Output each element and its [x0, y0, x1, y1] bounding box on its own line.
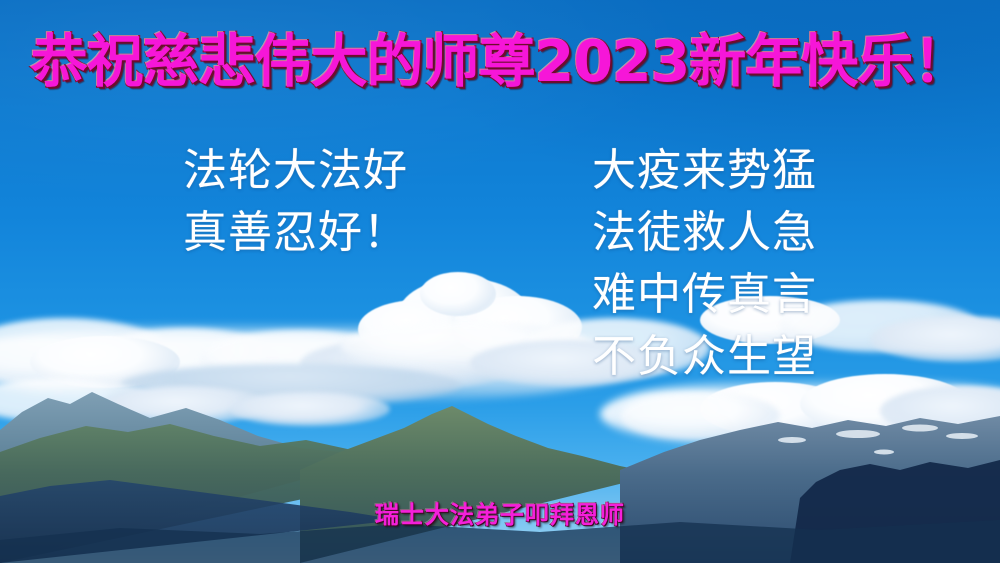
- credit-line: 瑞士大法弟子叩拜恩师: [0, 495, 1000, 530]
- verse-line: 难中传真言: [592, 264, 817, 326]
- verse-line: 法轮大法好: [183, 140, 408, 202]
- verse-line: 不负众生望: [592, 326, 817, 388]
- verse-line: 大疫来势猛: [592, 140, 817, 202]
- verse-block-left: 法轮大法好 真善忍好！: [183, 140, 408, 264]
- verse-block-right: 大疫来势猛 法徒救人急 难中传真言 不负众生望: [592, 140, 817, 388]
- card-title: 恭祝慈悲伟大的师尊2023新年快乐！: [0, 33, 1000, 93]
- verse-line: 法徒救人急: [592, 202, 817, 264]
- greeting-card: 恭祝慈悲伟大的师尊2023新年快乐！ 法轮大法好 真善忍好！ 大疫来势猛 法徒救…: [0, 0, 1000, 563]
- verse-line: 真善忍好！: [183, 202, 408, 264]
